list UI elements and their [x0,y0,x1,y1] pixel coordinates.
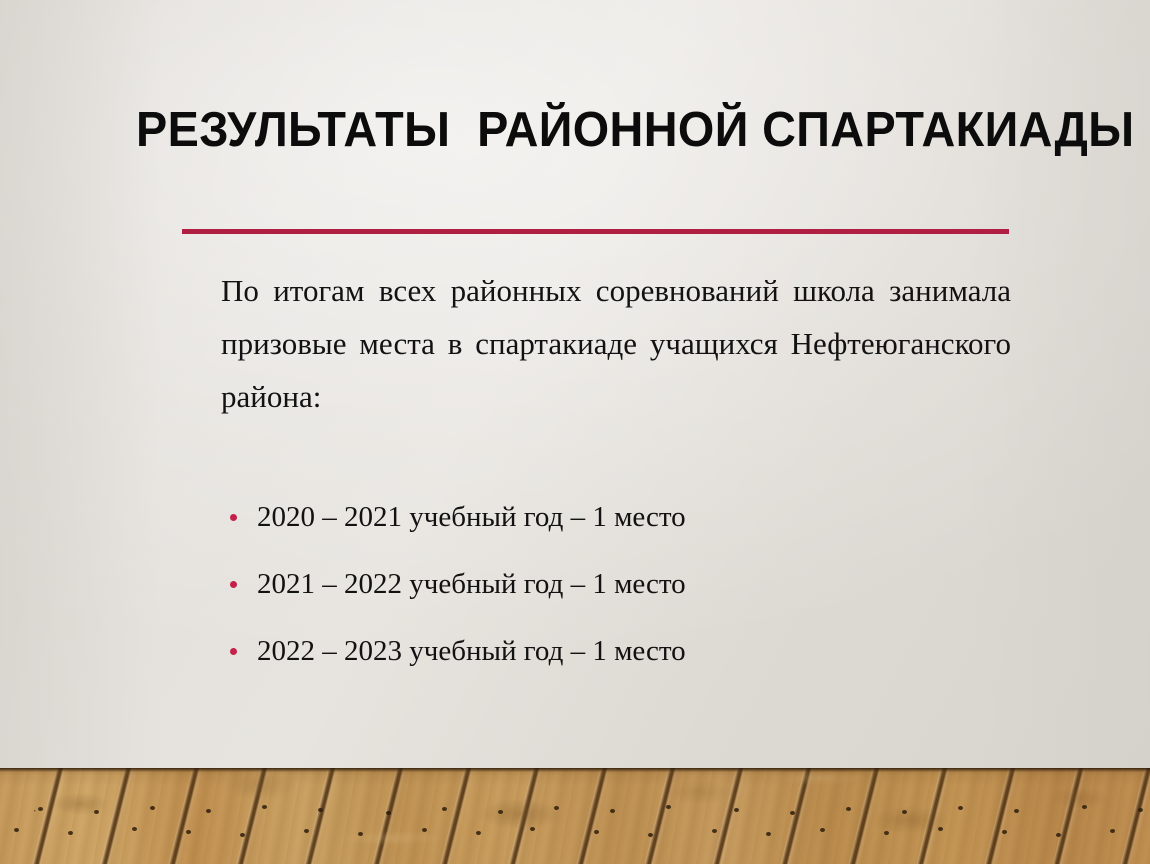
nail-hole-icon [1138,808,1143,812]
list-item-label: 2020 – 2021 учебный год – 1 место [257,501,686,533]
nail-hole-icon [1002,830,1007,834]
nail-hole-icon [498,810,503,814]
nail-hole-icon [958,806,963,810]
nail-hole-icon [790,811,795,815]
nail-hole-icon [358,832,363,836]
nail-hole-icon [594,830,599,834]
nail-hole-icon [846,807,851,811]
nail-hole-icon [1082,805,1087,809]
nail-hole-icon [94,810,99,814]
presentation-slide: РЕЗУЛЬТАТЫ РАЙОННОЙ СПАРТАКИАДЫ По итога… [0,0,1150,864]
nail-hole-icon [884,831,889,835]
nail-hole-icon [766,832,771,836]
nail-hole-icon [422,828,427,832]
nail-hole-icon [938,827,943,831]
wooden-floor-image [0,768,1150,864]
title-accent-rule [182,229,1009,234]
nail-hole-icon [186,830,191,834]
nail-hole-icon [1014,809,1019,813]
nail-hole-icon [476,831,481,835]
list-item-label: 2021 – 2022 учебный год – 1 место [257,568,686,600]
nail-hole-icon [132,827,137,831]
nail-hole-icon [240,833,245,837]
nail-hole-icon [554,806,559,810]
nail-hole-icon [734,808,739,812]
nail-hole-icon [1110,829,1115,833]
nail-hole-icon [304,829,309,833]
nail-hole-icon [666,805,671,809]
nail-hole-icon [262,805,267,809]
nail-hole-icon [318,808,323,812]
nail-hole-icon [712,829,717,833]
bullet-dot-icon [230,514,237,521]
list-item: 2022 – 2023 учебный год – 1 место [221,634,981,668]
list-item-label: 2022 – 2023 учебный год – 1 место [257,635,686,667]
nail-hole-icon [14,828,19,832]
nail-hole-icon [206,809,211,813]
nail-hole-icon [1056,833,1061,837]
nail-hole-icon [820,828,825,832]
floor-grain-texture [0,768,1150,864]
results-bullet-list: 2020 – 2021 учебный год – 1 место 2021 –… [221,500,981,668]
body-paragraph: По итогам всех районных соревнований шко… [221,264,1011,423]
page-title: РЕЗУЛЬТАТЫ РАЙОННОЙ СПАРТАКИАДЫ [136,104,1001,156]
bullet-dot-icon [230,648,237,655]
nail-hole-icon [648,833,653,837]
floor-nail-holes [0,768,1150,864]
nail-hole-icon [610,809,615,813]
nail-hole-icon [442,807,447,811]
list-item: 2020 – 2021 учебный год – 1 место [221,500,981,534]
nail-hole-icon [38,807,43,811]
nail-hole-icon [68,831,73,835]
nail-hole-icon [386,811,391,815]
nail-hole-icon [902,810,907,814]
nail-hole-icon [150,806,155,810]
nail-hole-icon [530,827,535,831]
list-item: 2021 – 2022 учебный год – 1 место [221,567,981,601]
wall-floor-shadow [0,768,1150,772]
bullet-dot-icon [230,581,237,588]
